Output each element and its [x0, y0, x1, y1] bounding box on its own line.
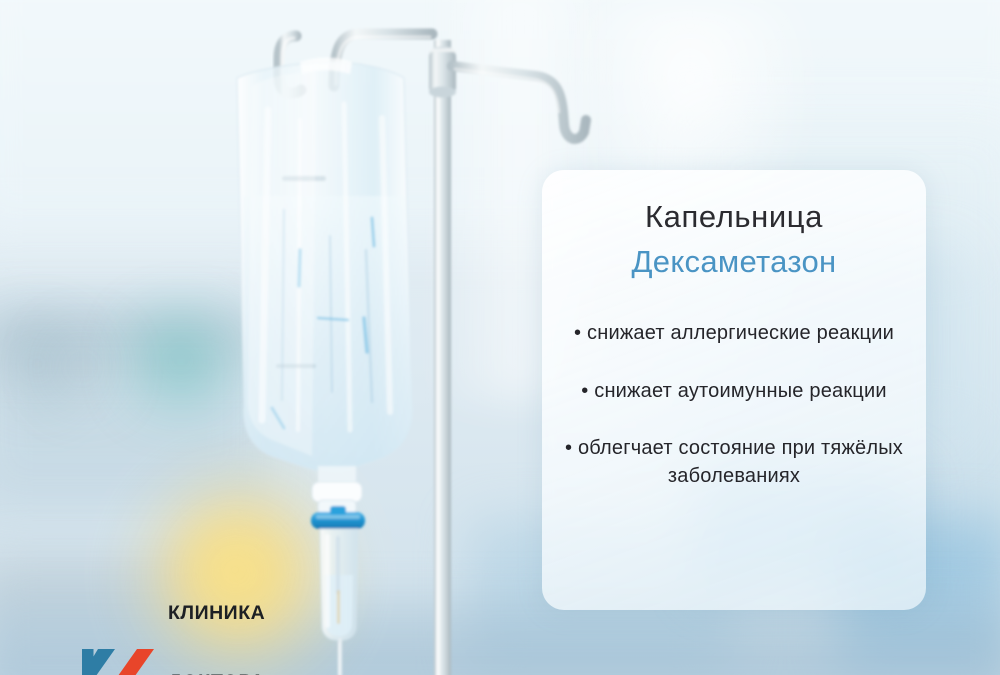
- benefit-item: • облегчает состояние при тяжёлых заболе…: [564, 435, 904, 490]
- logo-line-2: ДОКТОРА: [168, 671, 292, 675]
- kk-double-chevron-mark: [80, 645, 154, 675]
- clinic-logo-text: КЛИНИКА ДОКТОРА КАЛЮЖНОЙ: [168, 556, 292, 675]
- logo-line-1: КЛИНИКА: [168, 602, 292, 625]
- page-title: Капельница: [564, 200, 904, 235]
- clinic-logo: КЛИНИКА ДОКТОРА КАЛЮЖНОЙ: [80, 556, 292, 675]
- info-card: Капельница Дексаметазон • снижает аллерг…: [542, 170, 926, 610]
- benefit-item: • снижает аллергические реакции: [564, 320, 904, 348]
- drug-name: Дексаметазон: [564, 243, 904, 280]
- benefit-item: • снижает аутоимунные реакции: [564, 378, 904, 406]
- advertisement-canvas: Капельница Дексаметазон • снижает аллерг…: [0, 0, 1000, 675]
- benefits-list: • снижает аллергические реакции • снижае…: [564, 320, 904, 490]
